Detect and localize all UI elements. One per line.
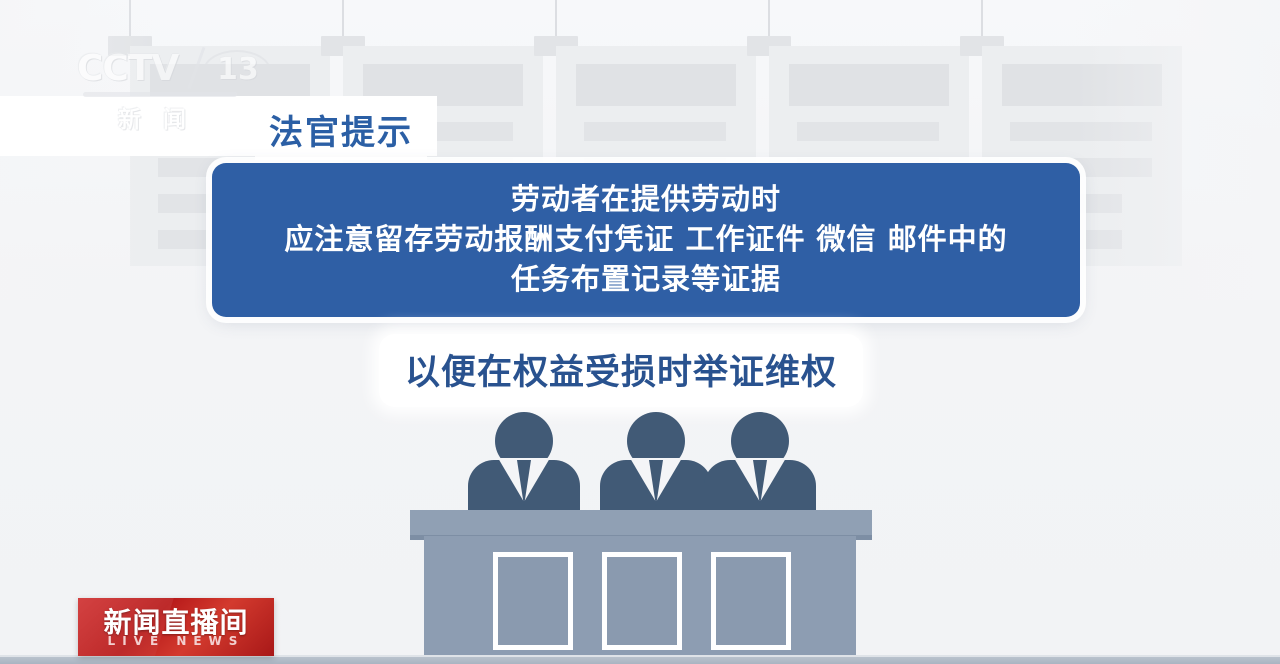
judge-tie [649,460,663,506]
broadcast-frame: CCTV 13 新闻 法官提示 劳动者在提供劳动时 应注意留存劳动报酬支付凭证 … [0,0,1280,664]
bench-panel [493,552,573,650]
judge-tip-label: 法官提示 [269,113,413,153]
judge-tie [753,460,767,506]
judge-figure [704,412,816,512]
bench-panel [602,552,682,650]
logo-text: CCTV [77,48,178,89]
live-bug-subtitle: LIVE NEWS [78,634,274,648]
logo-subtitle: 新闻 [103,100,223,134]
live-news-bug: 新闻直播间 LIVE NEWS [78,598,274,656]
judge-tip-caption: 法官提示 [255,102,427,160]
logo-mark: CCTV 13 [75,48,245,100]
judge-tie [517,460,531,506]
bench-panel [711,552,791,650]
info-line-1: 劳动者在提供劳动时 [230,179,1062,219]
logo-underline [83,92,237,97]
floor-line [0,657,1280,664]
info-line-2: 应注意留存劳动报酬支付凭证 工作证件 微信 邮件中的 [230,219,1062,259]
info-box: 劳动者在提供劳动时 应注意留存劳动报酬支付凭证 工作证件 微信 邮件中的 任务布… [212,163,1080,317]
logo-channel-number: 13 [217,52,259,87]
judge-figure [468,412,580,512]
info-line-3: 任务布置记录等证据 [230,259,1062,299]
bench-top [410,510,872,536]
highlight-text: 以便在权益受损时举证维权 [405,353,837,393]
judge-figure [600,412,712,512]
cctv13-logo: CCTV 13 新闻 [75,48,245,132]
